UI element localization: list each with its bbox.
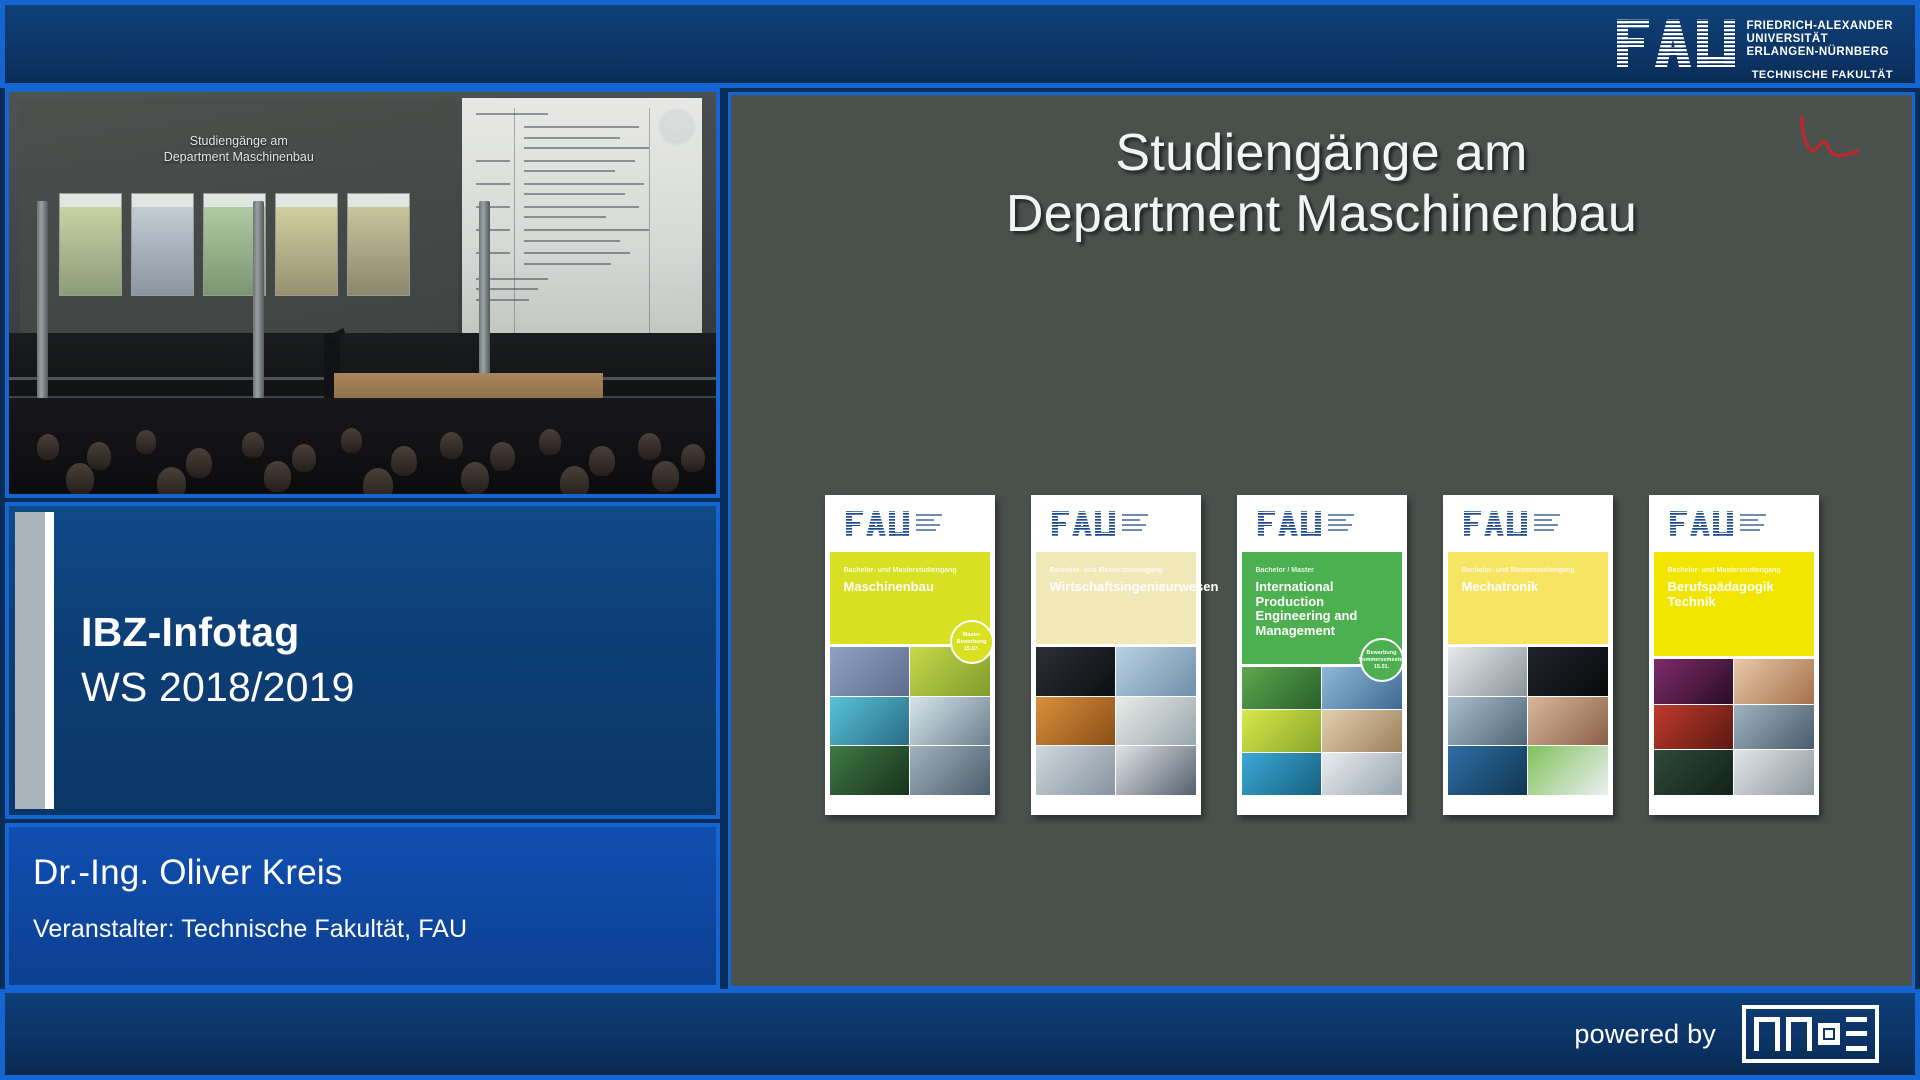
brochure-fau-logo-icon — [830, 500, 990, 552]
brochure-photos — [1448, 647, 1608, 795]
brochure-band: Bachelor- und Masterstudiengang Wirtscha… — [1036, 552, 1196, 644]
video-frame: Studiengänge am Department Maschinenbau — [9, 92, 716, 494]
slide-title-line-2: Department Maschinenbau — [731, 184, 1912, 245]
brochure-row: Bachelor- und Masterstudiengang Maschine… — [731, 495, 1912, 815]
brochure-footer — [1036, 795, 1196, 815]
university-seal-icon — [658, 108, 696, 146]
fau-line-1: FRIEDRICH-ALEXANDER — [1746, 20, 1893, 33]
projected-brochures — [59, 193, 410, 296]
brochure-fau-logo-icon — [1448, 500, 1608, 552]
fau-faculty-label: TECHNISCHE FAKULTÄT — [1746, 69, 1893, 81]
brochure-card[interactable]: Bachelor- und Masterstudiengang Berufspä… — [1649, 495, 1819, 815]
brochure-card[interactable]: Bachelor- und Masterstudiengang Mechatro… — [1443, 495, 1613, 815]
brochure-title: Berufspädagogik Technik — [1668, 580, 1802, 609]
hall-pillar — [37, 201, 48, 410]
fau-logo-mark-icon — [1617, 17, 1735, 69]
fau-logo-wordmark: FRIEDRICH-ALEXANDER UNIVERSITÄT ERLANGEN… — [1746, 17, 1893, 81]
presentation-player: FRIEDRICH-ALEXANDER UNIVERSITÄT ERLANGEN… — [0, 0, 1920, 1080]
brochure-kicker: Bachelor- und Masterstudiengang — [1050, 566, 1184, 575]
projected-brochure — [347, 193, 410, 296]
brochure-photos — [1036, 647, 1196, 795]
brochure-band: Bachelor- und Masterstudiengang Mechatro… — [1448, 552, 1608, 644]
brochure-kicker: Bachelor- und Masterstudiengang — [1668, 566, 1802, 575]
brochure-band: Bachelor / Master International Producti… — [1242, 552, 1402, 664]
projected-brochure — [59, 193, 122, 296]
brochure-card[interactable]: Bachelor / Master International Producti… — [1237, 495, 1407, 815]
brochure-footer — [1242, 795, 1402, 815]
brochure-fau-logo-icon — [1242, 500, 1402, 552]
left-column: Studiengänge am Department Maschinenbau — [5, 88, 720, 989]
presenter-card: Dr.-Ing. Oliver Kreis Veranstalter: Tech… — [5, 823, 720, 989]
projected-brochure — [131, 193, 194, 296]
brochure-fau-logo-icon — [1036, 500, 1196, 552]
brochure-photos — [830, 647, 990, 795]
brochure-badge: Bewerbung Sommersemester 15.01. — [1360, 638, 1404, 682]
red-scribble-annotation-icon — [1786, 109, 1864, 171]
accent-bar — [15, 512, 45, 809]
fau-logo: FRIEDRICH-ALEXANDER UNIVERSITÄT ERLANGEN… — [1617, 17, 1893, 81]
brochure-footer — [1654, 795, 1814, 815]
brochure-kicker: Bachelor- und Masterstudiengang — [844, 566, 978, 575]
brochure-footer — [1448, 795, 1608, 815]
fau-line-3: ERLANGEN-NÜRNBERG — [1746, 46, 1893, 59]
header-bar: FRIEDRICH-ALEXANDER UNIVERSITÄT ERLANGEN… — [0, 0, 1920, 88]
brochure-footer — [830, 795, 990, 815]
slide-title-line-1: Studiengänge am — [731, 123, 1912, 184]
event-name: IBZ-Infotag — [81, 608, 716, 656]
brochure-kicker: Bachelor / Master — [1256, 566, 1390, 575]
brochure-card[interactable]: Bachelor- und Masterstudiengang Maschine… — [825, 495, 995, 815]
audience-rows — [9, 398, 716, 494]
slide-title: Studiengänge am Department Maschinenbau — [731, 123, 1912, 245]
presenter-organizer: Veranstalter: Technische Fakultät, FAU — [33, 915, 716, 944]
event-term: WS 2018/2019 — [81, 662, 716, 713]
fau-line-2: UNIVERSITÄT — [1746, 33, 1893, 46]
brochure-photos — [1654, 659, 1814, 795]
powered-by-label: powered by — [1574, 1019, 1716, 1050]
lecture-hall-video[interactable]: Studiengänge am Department Maschinenbau — [5, 88, 720, 498]
rrze-logo-icon[interactable] — [1742, 1005, 1879, 1063]
event-title-text: IBZ-Infotag WS 2018/2019 — [54, 506, 716, 815]
brochure-fau-logo-icon — [1654, 500, 1814, 552]
brochure-title: Maschinenbau — [844, 580, 978, 595]
event-title-card: IBZ-Infotag WS 2018/2019 — [5, 502, 720, 819]
footer-bar: powered by — [0, 989, 1920, 1080]
presenter-name: Dr.-Ing. Oliver Kreis — [33, 853, 716, 893]
accent-divider — [45, 512, 54, 809]
brochure-card[interactable]: Bachelor- und Masterstudiengang Wirtscha… — [1031, 495, 1201, 815]
brochure-title: International Production Engineering and… — [1256, 580, 1390, 638]
projected-slide-title: Studiengänge am Department Maschinenbau — [81, 133, 397, 165]
slide-panel[interactable]: Studiengänge am Department Maschinenbau — [728, 92, 1915, 989]
hall-pillar — [253, 201, 264, 410]
brochure-title: Wirtschaftsingenieurwesen — [1050, 580, 1184, 595]
projected-brochure — [275, 193, 338, 296]
projection-screen: Studiengänge am Department Maschinenbau — [20, 100, 458, 333]
brochure-badge: Master Bewerbung 15.07. — [950, 620, 994, 664]
brochure-photos — [1242, 667, 1402, 795]
brochure-band: Bachelor- und Masterstudiengang Berufspä… — [1654, 552, 1814, 656]
brochure-band: Bachelor- und Masterstudiengang Maschine… — [830, 552, 990, 644]
brochure-kicker: Bachelor- und Masterstudiengang — [1462, 566, 1596, 575]
brochure-title: Mechatronik — [1462, 580, 1596, 595]
